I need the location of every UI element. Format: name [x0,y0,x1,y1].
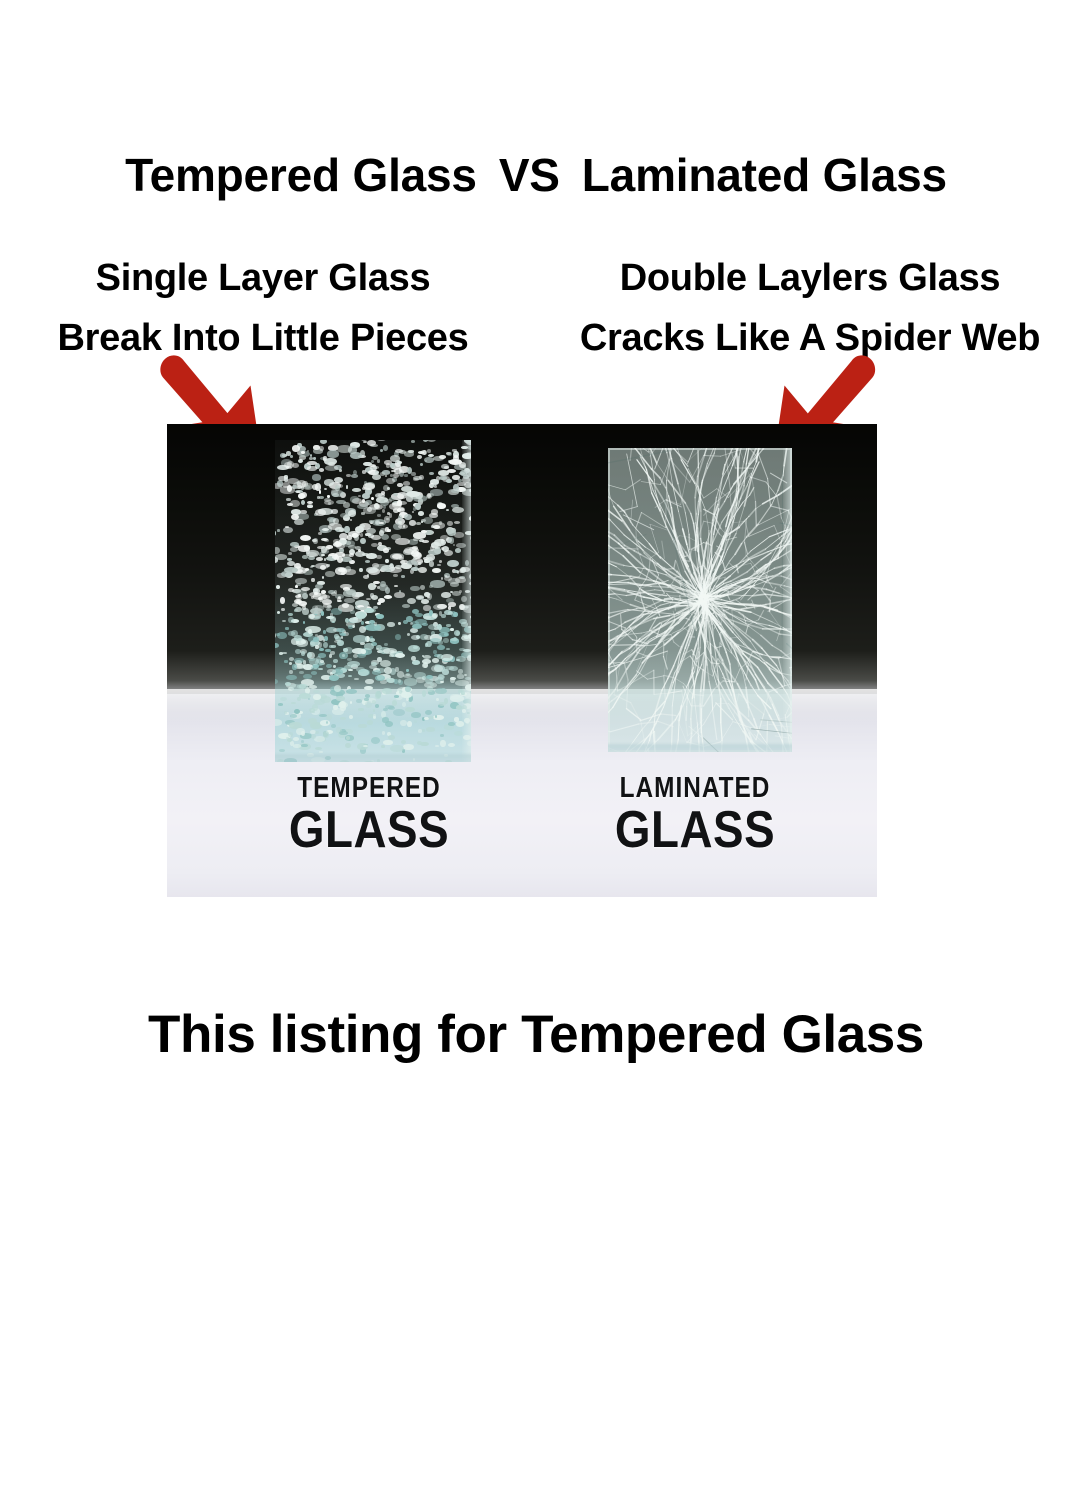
page-title: Tempered GlassVSLaminated Glass [0,152,1072,198]
laminated-description-line-2: Cracks Like A Spider Web [548,308,1072,368]
tempered-panel-base [275,754,471,762]
laminated-crack-web [608,448,792,752]
tempered-glass-panel [275,440,471,762]
laminated-panel-base [608,744,792,752]
tempered-shard-field [275,440,471,762]
listing-graphic: Tempered GlassVSLaminated Glass Single L… [0,0,1072,1500]
title-left-term: Tempered Glass [125,149,477,201]
title-separator: VS [499,149,560,201]
photo-caption-tempered: TEMPERED GLASS [219,774,519,858]
laminated-description-line-1: Double Laylers Glass [548,248,1072,308]
comparison-photo: TEMPERED GLASS LAMINATED GLASS [167,424,877,897]
photo-caption-tempered-top: TEMPERED [243,774,495,803]
photo-caption-laminated-top: LAMINATED [569,774,821,803]
photo-caption-laminated: LAMINATED GLASS [545,774,845,858]
photo-caption-tempered-bottom: GLASS [237,803,501,858]
comparison-descriptions: Single Layer Glass Break Into Little Pie… [0,248,1072,368]
laminated-description: Double Laylers Glass Cracks Like A Spide… [548,248,1072,368]
title-right-term: Laminated Glass [582,149,947,201]
laminated-panel-edge [783,448,792,752]
tempered-description-line-2: Break Into Little Pieces [6,308,520,368]
photo-caption-laminated-bottom: GLASS [563,803,827,858]
tempered-description: Single Layer Glass Break Into Little Pie… [6,248,520,368]
laminated-glass-panel [608,448,792,752]
tempered-description-line-1: Single Layer Glass [6,248,520,308]
tempered-panel-edge [462,440,471,762]
listing-note: This listing for Tempered Glass [0,1008,1072,1061]
